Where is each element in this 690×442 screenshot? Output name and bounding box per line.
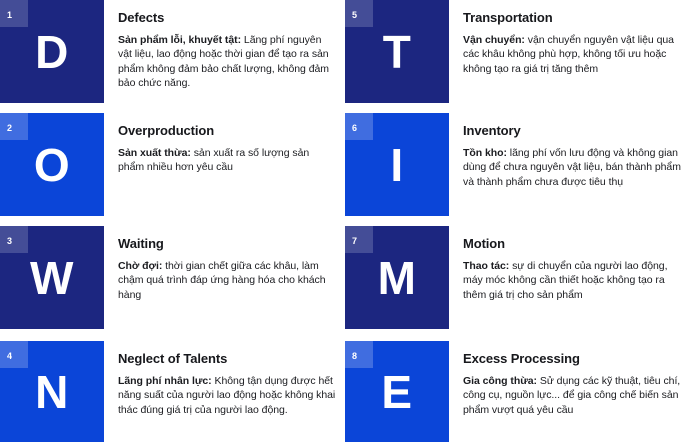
card-body: Motion Thao tác: sự di chuyển của người … bbox=[449, 226, 690, 302]
card-description-lead: Gia công thừa: bbox=[463, 375, 537, 387]
card-body: Waiting Chờ đợi: thời gian chết giữa các… bbox=[104, 226, 345, 302]
card-description: Lãng phí nhân lực: Không tận dụng được h… bbox=[118, 374, 337, 418]
letter-tile-n: 4 N bbox=[0, 341, 104, 442]
card-body: Neglect of Talents Lãng phí nhân lực: Kh… bbox=[104, 341, 345, 417]
letter-tile-w: 3 W bbox=[0, 226, 104, 329]
tile-letter-glyph: E bbox=[345, 341, 449, 442]
letter-tile-d: 1 D bbox=[0, 0, 104, 103]
card-title: Waiting bbox=[118, 236, 337, 252]
card-description: Sản phẩm lỗi, khuyết tật: Lãng phí nguyê… bbox=[118, 33, 337, 91]
waste-card-motion: 7 M Motion Thao tác: sự di chuyển của ng… bbox=[345, 226, 690, 341]
card-description-lead: Vận chuyển: bbox=[463, 34, 525, 46]
card-description-lead: Thao tác: bbox=[463, 260, 509, 272]
card-body: Transportation Vận chuyển: vận chuyển ng… bbox=[449, 0, 690, 76]
waste-card-inventory: 6 I Inventory Tồn kho: lãng phí vốn lưu … bbox=[345, 113, 690, 226]
card-description-lead: Sản phẩm lỗi, khuyết tật: bbox=[118, 34, 241, 46]
letter-tile-m: 7 M bbox=[345, 226, 449, 329]
card-body: Excess Processing Gia công thừa: Sử dụng… bbox=[449, 341, 690, 417]
tile-letter-glyph: O bbox=[0, 113, 104, 216]
waste-card-waiting: 3 W Waiting Chờ đợi: thời gian chết giữa… bbox=[0, 226, 345, 341]
card-title: Neglect of Talents bbox=[118, 351, 337, 367]
letter-tile-i: 6 I bbox=[345, 113, 449, 216]
card-description: Sản xuất thừa: sản xuất ra số lượng sản … bbox=[118, 146, 337, 175]
letter-tile-e: 8 E bbox=[345, 341, 449, 442]
card-description-lead: Chờ đợi: bbox=[118, 260, 162, 272]
downtime-waste-grid: 1 D Defects Sản phẩm lỗi, khuyết tật: Lã… bbox=[0, 0, 690, 442]
card-description: Chờ đợi: thời gian chết giữa các khâu, l… bbox=[118, 259, 337, 303]
waste-card-transportation: 5 T Transportation Vận chuyển: vận chuyể… bbox=[345, 0, 690, 113]
waste-card-excess-processing: 8 E Excess Processing Gia công thừa: Sử … bbox=[345, 341, 690, 442]
card-title: Motion bbox=[463, 236, 682, 252]
card-description: Tồn kho: lãng phí vốn lưu động và không … bbox=[463, 146, 682, 190]
card-description: Gia công thừa: Sử dụng các kỹ thuật, tiê… bbox=[463, 374, 682, 418]
card-description: Thao tác: sự di chuyển của người lao độn… bbox=[463, 259, 682, 303]
letter-tile-t: 5 T bbox=[345, 0, 449, 103]
tile-letter-glyph: M bbox=[345, 226, 449, 329]
waste-card-defects: 1 D Defects Sản phẩm lỗi, khuyết tật: Lã… bbox=[0, 0, 345, 113]
card-title: Excess Processing bbox=[463, 351, 682, 367]
tile-letter-glyph: W bbox=[0, 226, 104, 329]
tile-letter-glyph: D bbox=[0, 0, 104, 103]
card-body: Defects Sản phẩm lỗi, khuyết tật: Lãng p… bbox=[104, 0, 345, 91]
tile-letter-glyph: T bbox=[345, 0, 449, 103]
card-body: Overproduction Sản xuất thừa: sản xuất r… bbox=[104, 113, 345, 175]
card-description-lead: Tồn kho: bbox=[463, 147, 507, 159]
waste-card-neglect-of-talents: 4 N Neglect of Talents Lãng phí nhân lực… bbox=[0, 341, 345, 442]
card-body: Inventory Tồn kho: lãng phí vốn lưu động… bbox=[449, 113, 690, 189]
letter-tile-o: 2 O bbox=[0, 113, 104, 216]
tile-letter-glyph: I bbox=[345, 113, 449, 216]
waste-card-overproduction: 2 O Overproduction Sản xuất thừa: sản xu… bbox=[0, 113, 345, 226]
card-description-lead: Sản xuất thừa: bbox=[118, 147, 191, 159]
tile-letter-glyph: N bbox=[0, 341, 104, 442]
card-title: Overproduction bbox=[118, 123, 337, 139]
card-title: Transportation bbox=[463, 10, 682, 26]
card-title: Defects bbox=[118, 10, 337, 26]
card-description-lead: Lãng phí nhân lực: bbox=[118, 375, 212, 387]
card-title: Inventory bbox=[463, 123, 682, 139]
card-description: Vận chuyển: vận chuyển nguyên vật liệu q… bbox=[463, 33, 682, 77]
